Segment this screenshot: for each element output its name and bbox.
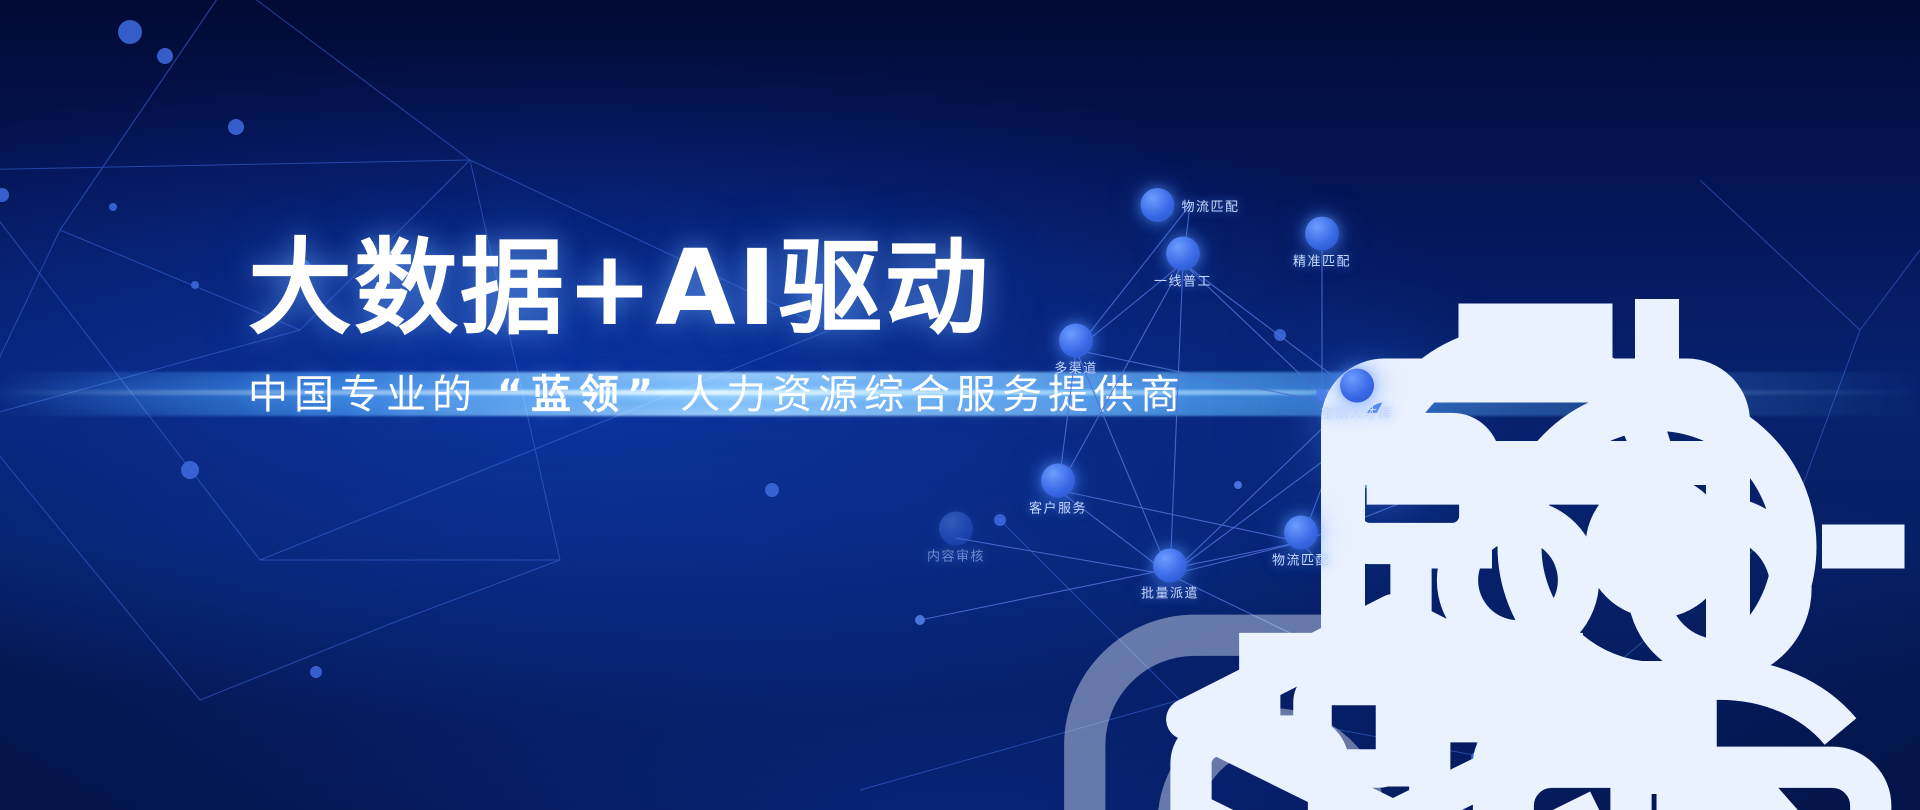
worker-icon — [1166, 237, 1200, 271]
node-wuliu-top[interactable]: 物流匹配 — [1140, 188, 1239, 222]
node-piliang[interactable]: 批量派遣 — [1110, 549, 1230, 602]
node-yixian[interactable]: 一线普工 — [1123, 237, 1243, 290]
service-network-graph: 物流匹配 精准匹配 一线普工 — [1130, 150, 1920, 810]
node-kehufuwu[interactable]: 客户服务 — [998, 464, 1118, 517]
subtitle-quoted: “蓝领” — [497, 372, 662, 418]
truck-icon — [1284, 516, 1318, 550]
layers-icon — [1041, 464, 1075, 498]
review-search-icon — [939, 512, 973, 546]
user-card-icon — [1340, 369, 1374, 403]
package-icon — [1140, 188, 1174, 222]
node-label: 内容审核 — [927, 550, 985, 565]
sitemap-icon — [1059, 324, 1093, 358]
node-duoqudao[interactable]: 多渠道 — [1016, 324, 1136, 377]
node-rencaiku[interactable]: 宝航人才库 — [1297, 369, 1417, 422]
hero-banner: 大数据+AI驱动 中国专业的 “蓝领” 人力资源综合服务提供商 — [0, 0, 1920, 810]
node-neirong[interactable]: 内容审核 — [896, 512, 1016, 565]
subtitle-prefix: 中国专业的 — [248, 372, 478, 418]
dispatch-icon — [1153, 549, 1187, 583]
